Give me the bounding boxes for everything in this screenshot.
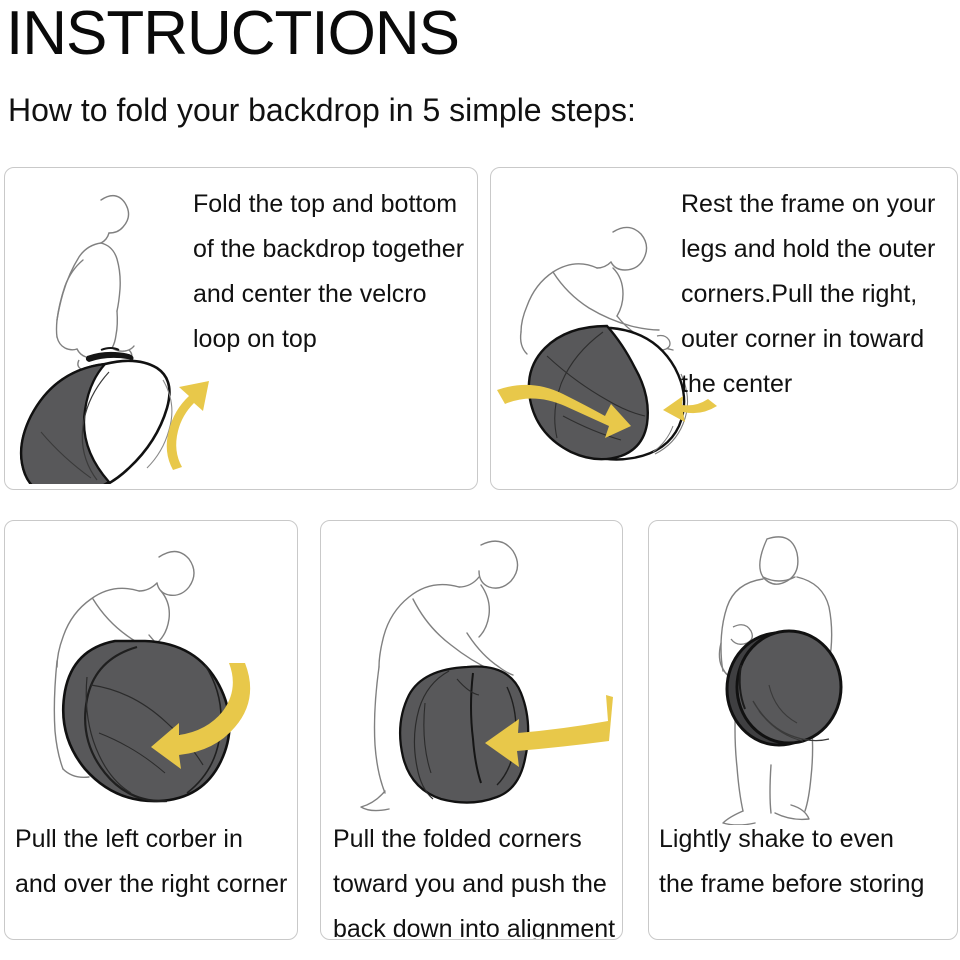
illustration-pull-left-corner	[9, 525, 298, 815]
caption-line: outer corner in toward	[681, 317, 935, 362]
backdrop-fabric	[21, 361, 172, 484]
caption-line: Pull the folded corners	[333, 817, 615, 862]
caption-line: of the backdrop together	[193, 227, 464, 272]
caption-fold-top-and-bottom: Fold the top and bottom of the backdrop …	[193, 182, 464, 362]
figure-outline-icon	[57, 196, 135, 357]
caption-line: legs and hold the outer	[681, 227, 935, 272]
panel-shake-before-storing: Lightly shake to even the frame before s…	[648, 520, 958, 940]
caption-shake-before-storing: Lightly shake to even the frame before s…	[659, 817, 924, 907]
caption-rest-frame-on-legs: Rest the frame on your legs and hold the…	[681, 182, 935, 407]
disc-front-face	[737, 631, 841, 743]
caption-line: Rest the frame on your	[681, 182, 935, 227]
caption-pull-left-corner: Pull the left corber in and over the rig…	[15, 817, 287, 907]
panel-pull-folded-corners: Pull the folded corners toward you and p…	[320, 520, 623, 940]
caption-line: corners.Pull the right,	[681, 272, 935, 317]
panel-pull-left-corner: Pull the left corber in and over the rig…	[4, 520, 298, 940]
page-subtitle: How to fold your backdrop in 5 simple st…	[8, 92, 636, 128]
caption-line: Fold the top and bottom	[193, 182, 464, 227]
illustration-shake-before-storing	[649, 525, 957, 825]
caption-line: and center the velcro	[193, 272, 464, 317]
folded-disc	[727, 631, 841, 745]
caption-line: and over the right corner	[15, 862, 287, 907]
arrow-up-curved	[167, 381, 209, 470]
caption-line: toward you and push the	[333, 862, 615, 907]
caption-pull-folded-corners: Pull the folded corners toward you and p…	[333, 817, 615, 940]
caption-line: the frame before storing	[659, 862, 924, 907]
caption-line: Lightly shake to even	[659, 817, 924, 862]
caption-line: loop on top	[193, 317, 464, 362]
illustration-pull-folded-corners	[321, 527, 621, 817]
panel-rest-frame-on-legs: Rest the frame on your legs and hold the…	[490, 167, 958, 490]
instructions-page: INSTRUCTIONS How to fold your backdrop i…	[0, 0, 960, 960]
caption-line: back down into alignment	[333, 907, 615, 940]
caption-line: the center	[681, 362, 935, 407]
page-title: INSTRUCTIONS	[6, 2, 459, 66]
panel-fold-top-and-bottom: Fold the top and bottom of the backdrop …	[4, 167, 478, 490]
caption-line: Pull the left corber in	[15, 817, 287, 862]
